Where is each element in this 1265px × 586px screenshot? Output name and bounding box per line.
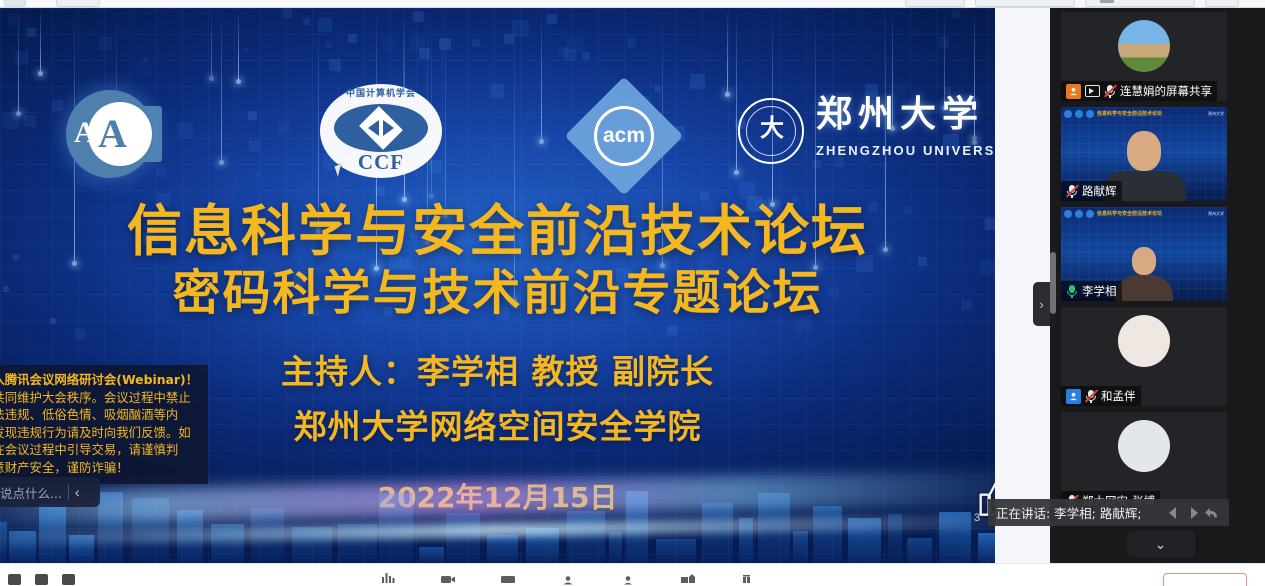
toolbar-center-group[interactable] xyxy=(380,571,756,585)
participant-name: 李学相 xyxy=(1082,283,1117,299)
participant-name: 和孟伴 xyxy=(1101,388,1136,404)
zzu-name-cn: 郑州大学 xyxy=(816,96,984,132)
banner-title: 信息科学与安全前沿技术论坛 xyxy=(1097,110,1162,117)
leave-meeting-button[interactable] xyxy=(1163,573,1247,586)
notice-line-6: 注意财产安全，谨防诈骗！ xyxy=(0,459,200,477)
mic-on-icon xyxy=(1066,284,1078,299)
ccf-logo-top-text: 中国计算机学会 xyxy=(320,90,442,99)
window-chrome xyxy=(0,0,1265,8)
mic-muted-icon xyxy=(1104,84,1116,99)
acm-logo: acm xyxy=(582,94,666,178)
toolbar-left-item-1[interactable] xyxy=(8,574,21,585)
participant-rail[interactable]: ⌃ 连慧娟的屏幕共享 信息科学与安全前沿技术论坛 xyxy=(1056,8,1265,563)
host-badge-icon xyxy=(1066,84,1081,99)
participant-tile[interactable]: 信息科学与安全前沿技术论坛 郑州大学 李学相 xyxy=(1061,207,1227,301)
zzu-seal-icon: 大 xyxy=(738,98,804,164)
video-camera-icon[interactable] xyxy=(440,571,456,585)
prev-speaker-icon[interactable] xyxy=(1166,505,1182,521)
chat-divider xyxy=(68,484,69,500)
slide-title-line2: 密码科学与技术前沿专题论坛 xyxy=(0,253,995,323)
banner-icon-3 xyxy=(1086,110,1094,118)
invite-icon[interactable] xyxy=(620,571,636,585)
sidebar-collapse-handle[interactable]: › xyxy=(1033,282,1050,326)
chat-icon[interactable] xyxy=(680,571,696,585)
chrome-button-4[interactable] xyxy=(975,0,1075,7)
screen-share-icon xyxy=(1085,85,1100,97)
reaction-count: 3 xyxy=(974,512,980,524)
chrome-button-6[interactable] xyxy=(1205,0,1239,7)
participant-name-bar: 连慧娟的屏幕共享 xyxy=(1061,81,1217,101)
banner-org: 郑州大学 xyxy=(1208,111,1224,117)
acm-logo-text: acm xyxy=(582,125,666,146)
next-speaker-icon[interactable] xyxy=(1185,505,1201,521)
chrome-indicator xyxy=(1100,0,1114,3)
banner-icon-3 xyxy=(1086,210,1094,218)
notice-line-1: 进入腾讯会议网络研讨会(Webinar)！ xyxy=(0,371,200,389)
meeting-toolbar[interactable] xyxy=(0,563,1265,586)
chat-input-placeholder[interactable]: 说点什么... xyxy=(0,483,62,502)
rail-scroll-down-button[interactable]: ⌄ xyxy=(1127,531,1195,557)
speaking-status-label: 正在讲话: 李学相; 路献辉; xyxy=(996,503,1142,522)
toolbar-left-item-2[interactable] xyxy=(35,574,48,585)
banner-icon-1 xyxy=(1064,110,1072,118)
banner-icon-2 xyxy=(1075,110,1083,118)
mic-muted-icon xyxy=(1085,389,1097,404)
system-notice-banner: 进入腾讯会议网络研讨会(Webinar)！ 家共同维护大会秩序。会议过程中禁止 … xyxy=(0,365,208,484)
participant-tile[interactable]: 信息科学与安全前沿技术论坛 郑州大学 路献辉 xyxy=(1061,107,1227,201)
share-screen-icon[interactable] xyxy=(500,571,516,585)
speaking-status-icons[interactable] xyxy=(1166,505,1221,521)
zzu-name-en: ZHENGZHOU UNIVERSITY xyxy=(816,144,995,157)
participant-tile[interactable]: 连慧娟的屏幕共享 xyxy=(1061,12,1227,101)
toolbar-left-item-3[interactable] xyxy=(62,574,75,585)
banner-title: 信息科学与安全前沿技术论坛 xyxy=(1097,210,1162,217)
participant-video-banner: 信息科学与安全前沿技术论坛 郑州大学 xyxy=(1061,207,1227,220)
avatar xyxy=(1118,315,1170,367)
meeting-window: A A 中国计算机学会 CCF acm xyxy=(0,0,1265,586)
participant-name-bar: 路献辉 xyxy=(1061,181,1122,201)
participant-name: 路献辉 xyxy=(1082,183,1117,199)
chrome-button-1[interactable] xyxy=(4,0,26,7)
banner-icon-2 xyxy=(1075,210,1083,218)
banner-org: 郑州大学 xyxy=(1208,211,1224,217)
participants-icon[interactable] xyxy=(560,571,576,585)
participant-tile[interactable]: 郑大网安-张博 xyxy=(1061,412,1227,511)
participant-name-bar: 李学相 xyxy=(1061,281,1122,301)
chat-collapse-icon[interactable]: ‹ xyxy=(75,485,80,499)
participant-name-bar: 和孟伴 xyxy=(1061,386,1141,406)
slide-logo-row: A A 中国计算机学会 CCF acm xyxy=(0,42,995,130)
audio-icon[interactable] xyxy=(380,571,396,585)
zhengzhou-university-logo: 大 郑州大学 ZHENGZHOU UNIVERSITY xyxy=(738,94,978,174)
avatar xyxy=(1118,20,1170,72)
apps-icon[interactable] xyxy=(740,571,756,585)
user-badge-icon xyxy=(1066,389,1081,404)
speaking-status-bar: 正在讲话: 李学相; 路献辉; xyxy=(988,499,1229,526)
banner-icon-1 xyxy=(1064,210,1072,218)
toolbar-left-group[interactable] xyxy=(8,574,75,585)
shared-screen-stage[interactable]: A A 中国计算机学会 CCF acm xyxy=(0,8,995,563)
notice-line-4: 若发现违规行为请及时向我们反馈。如 xyxy=(0,424,200,442)
participant-video-banner: 信息科学与安全前沿技术论坛 郑州大学 xyxy=(1061,107,1227,120)
aaai-logo: A A xyxy=(66,90,164,178)
notice-line-2: 家共同维护大会秩序。会议过程中禁止 xyxy=(0,389,200,407)
mic-muted-icon xyxy=(1066,184,1078,199)
return-arrow-icon[interactable] xyxy=(1204,505,1221,521)
notice-line-3: 违法违规、低俗色情、吸烟酗酒等内 xyxy=(0,406,200,424)
chrome-button-3[interactable] xyxy=(905,0,965,7)
chrome-button-2[interactable] xyxy=(56,0,100,7)
zzu-seal-text: 大 xyxy=(760,117,784,141)
participant-person xyxy=(1115,247,1173,301)
avatar xyxy=(1118,420,1170,472)
participant-tile[interactable]: 和孟伴 xyxy=(1061,307,1227,406)
notice-line-5: 方在会议过程中引导交易，请谨慎判 xyxy=(0,441,200,459)
participant-name: 连慧娟的屏幕共享 xyxy=(1120,83,1212,99)
chat-input-bar[interactable]: 说点什么... ‹ xyxy=(0,477,100,507)
